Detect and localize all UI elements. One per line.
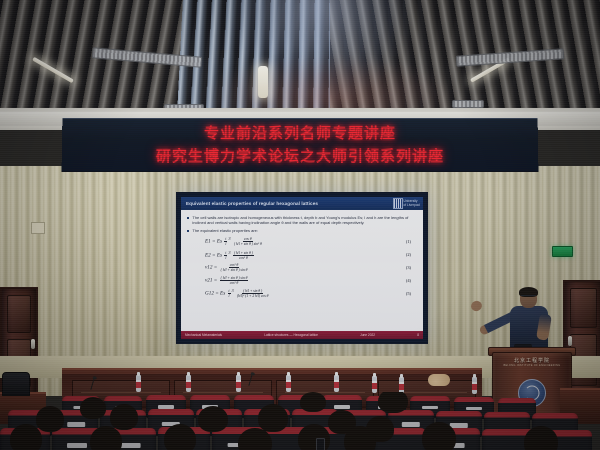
bullet-square-icon [187, 217, 189, 219]
equation-1-ratio-den: ( h/l + sin θ ) sin² θ [233, 242, 263, 246]
attendee [90, 426, 122, 450]
emergency-exit-sign [552, 246, 573, 257]
equation-5-ratio: ( h/l + sin θ ) (h/l)² (1 + 2 h/l) cos θ [236, 289, 269, 298]
equation-5-lhs: G12 = Es [205, 291, 225, 297]
seat-number-tag [120, 443, 141, 448]
flower-arrangement [428, 374, 450, 386]
door-left-handle[interactable] [31, 339, 35, 349]
water-bottle [186, 375, 191, 392]
equation-1-power: 3 [228, 236, 230, 241]
banner-line-2: 研究生博力学术论坛之大师引领系列讲座 [62, 145, 539, 168]
slide-footer-right: June 2022 [360, 333, 375, 337]
attendee [198, 406, 228, 432]
equation-row: ν12 = cos² θ ( h/l + sin θ ) sin θ (3) [187, 263, 417, 272]
presentation-slide: Equivalent elastic properties of regular… [181, 197, 423, 339]
door-left-panel-top [7, 295, 31, 333]
wall-control-plate [31, 222, 45, 234]
equation-1-number: (1) [406, 239, 411, 244]
projection-screen: Equivalent elastic properties of regular… [176, 192, 428, 344]
equation-3-number: (3) [406, 265, 411, 270]
equation-3-lhs: ν12 = [205, 265, 217, 271]
water-bottle [334, 375, 339, 392]
equation-body: E2 = Es t l 3 ( h/l + sin θ ) cos³ θ [205, 250, 255, 260]
bullet-square-icon [187, 230, 189, 232]
equation-2-fraction: t l [224, 251, 227, 260]
equation-4-ratio: ( h/l + sin θ ) sin θ cos² θ [220, 276, 249, 285]
attendee [36, 406, 64, 432]
attendee [258, 404, 288, 432]
equation-4-number: (4) [406, 278, 411, 283]
equation-body: ν21 = ( h/l + sin θ ) sin θ cos² θ [205, 276, 249, 285]
equation-4-lhs: ν21 = [205, 277, 217, 283]
equation-2-lhs: E2 = Es [205, 252, 222, 258]
equation-1-frac-den: l [224, 242, 227, 246]
slide-bullet-2: The equivalent elastic properties are: [187, 228, 417, 233]
attendee [298, 424, 330, 450]
speaker-lowered-arm [536, 313, 552, 341]
podium-title-text: 北京工程学院 [493, 357, 571, 364]
banner-line-1: 专业前沿系列名师专题讲座 [62, 122, 538, 145]
equation-3-ratio-den: ( h/l + sin θ ) sin θ [220, 268, 249, 272]
equation-row: E1 = Es t l 3 cos θ ( h/l + sin θ ) sin²… [187, 236, 417, 246]
equation-5-number: (5) [406, 291, 411, 296]
slide-title-bar: Equivalent elastic properties of regular… [181, 197, 423, 210]
slide-footer-bar: Mechanical Metamaterials Lattice structu… [181, 331, 423, 339]
slide-equations: E1 = Es t l 3 cos θ ( h/l + sin θ ) sin²… [187, 236, 417, 298]
equation-5-fraction: t l [228, 289, 231, 298]
equation-row: G12 = Es t l 3 ( h/l + sin θ ) (h/l)² (1… [187, 288, 417, 298]
attendee [80, 397, 106, 419]
slide-bullet-1: The cell walls are isotropic and homogen… [187, 215, 417, 225]
logo-line-2: of Liverpool [404, 203, 420, 207]
university-of-liverpool-logo: University of Liverpool [393, 198, 421, 209]
seat-number-tag [450, 423, 468, 427]
equation-2-frac-den: l [224, 256, 227, 260]
slide-footer-page: 8 [417, 333, 419, 337]
eyeglasses-icon [521, 295, 536, 299]
attendee [422, 422, 456, 450]
equation-5-ratio-den: (h/l)² (1 + 2 h/l) cos θ [236, 294, 269, 298]
attendee [110, 404, 138, 430]
equation-2-ratio-den: cos³ θ [238, 256, 249, 260]
equation-5-frac-den: l [228, 294, 231, 298]
water-bottle [286, 375, 291, 392]
attendee [300, 392, 326, 412]
slide-title-text: Equivalent elastic properties of regular… [183, 201, 318, 206]
water-bottle [372, 376, 377, 393]
podium-subtitle-text: BEIJING INSTITUTE OF ENGINEERING [493, 364, 571, 367]
attendee [524, 426, 558, 450]
equation-row: E2 = Es t l 3 ( h/l + sin θ ) cos³ θ (2) [187, 250, 417, 260]
attendee [238, 428, 272, 450]
equation-5-power: 3 [232, 288, 234, 293]
attendee [164, 424, 196, 450]
water-bottle [136, 375, 141, 392]
equation-3-ratio: cos² θ ( h/l + sin θ ) sin θ [220, 263, 249, 272]
slide-body: The cell walls are isotropic and homogen… [181, 210, 423, 331]
seat-number-tag [422, 406, 438, 410]
lecture-hall-photo: 专业前沿系列名师专题讲座 研究生博力学术论坛之大师引领系列讲座 Equivale… [0, 0, 600, 450]
door-right-handle[interactable] [568, 336, 572, 346]
door-right-panel-top [570, 288, 597, 328]
ceiling-light-tube-center [258, 66, 268, 98]
equation-body: G12 = Es t l 3 ( h/l + sin θ ) (h/l)² (1… [205, 288, 270, 298]
smartphone [316, 438, 325, 450]
equation-body: E1 = Es t l 3 cos θ ( h/l + sin θ ) sin²… [205, 236, 264, 246]
slatted-baffle-ceiling [0, 0, 600, 118]
seat-number-tag [402, 422, 420, 426]
seat-number-tag [67, 422, 85, 426]
equation-row: ν21 = ( h/l + sin θ ) sin θ cos² θ (4) [187, 276, 417, 285]
equation-1-lhs: E1 = Es [205, 239, 222, 245]
equation-1-ratio: cos θ ( h/l + sin θ ) sin² θ [233, 237, 263, 246]
equation-2-number: (2) [406, 252, 411, 257]
led-banner: 专业前沿系列名师专题讲座 研究生博力学术论坛之大师引领系列讲座 [62, 118, 539, 172]
slide-bullet-1-text: The cell walls are isotropic and homogen… [192, 215, 417, 225]
equation-4-ratio-den: cos² θ [229, 281, 240, 285]
equation-2-power: 3 [228, 250, 230, 255]
ceiling-air-vent-lower-right [452, 100, 484, 108]
water-bottle [236, 375, 241, 392]
slide-bullet-2-text: The equivalent elastic properties are: [192, 228, 258, 233]
attendee [378, 392, 408, 413]
seat-number-tag [334, 405, 350, 409]
auditorium-seating [0, 392, 600, 450]
equation-1-fraction: t l [224, 237, 227, 246]
attendee [344, 426, 376, 450]
equation-body: ν12 = cos² θ ( h/l + sin θ ) sin θ [205, 263, 249, 272]
slide-footer-center: Lattice structures — Hexagonal lattice [264, 333, 318, 337]
logo-text: University of Liverpool [404, 200, 420, 207]
attendee [10, 424, 42, 450]
equation-2-ratio: ( h/l + sin θ ) cos³ θ [233, 251, 254, 260]
slide-footer-left: Mechanical Metamaterials [185, 333, 222, 337]
seat-number-tag [67, 443, 87, 448]
seat-number-tag [466, 407, 482, 411]
liverpool-shield-icon [393, 198, 403, 209]
